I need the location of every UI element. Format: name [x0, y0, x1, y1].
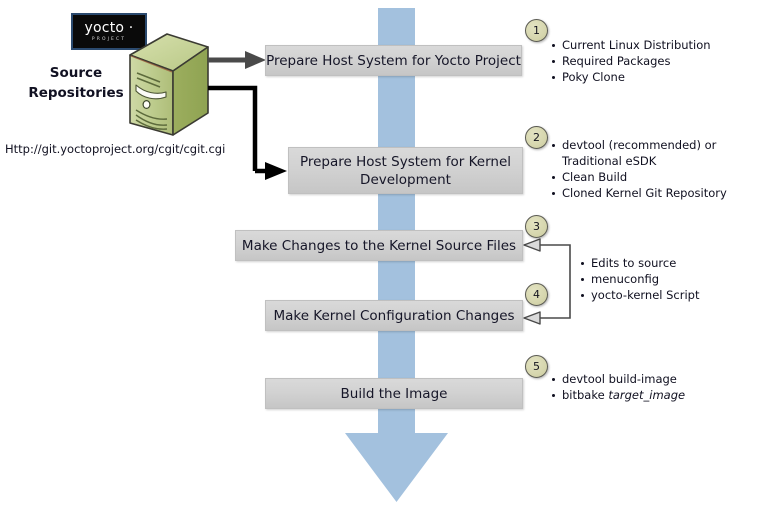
- process-box-step-3[interactable]: Make Changes to the Kernel Source Files: [235, 230, 523, 261]
- bullet-list-step-1: Current Linux Distribution Required Pack…: [551, 37, 711, 85]
- logo-subtext: PROJECT: [92, 36, 126, 43]
- connector-bracket-steps-3-4: [524, 239, 570, 324]
- source-label-line2: Repositories: [12, 83, 140, 103]
- list-item: bitbake target_image: [551, 387, 685, 403]
- process-box-step-4[interactable]: Make Kernel Configuration Changes: [265, 300, 523, 331]
- source-repository-url: Http://git.yoctoproject.org/cgit/cgit.cg…: [5, 142, 235, 156]
- source-repositories-label: Source Repositories: [12, 63, 140, 103]
- bullet-list-step-2: devtool (recommended) or Traditional eSD…: [551, 137, 727, 201]
- list-item: Required Packages: [551, 53, 711, 69]
- list-item: Clean Build: [551, 169, 727, 185]
- list-item: yocto-kernel Script: [580, 287, 700, 303]
- process-box-step-5[interactable]: Build the Image: [265, 378, 523, 409]
- source-label-line1: Source: [12, 63, 140, 83]
- process-box-step-2[interactable]: Prepare Host System for Kernel Developme…: [288, 147, 523, 194]
- connector-server-to-step1: [208, 51, 266, 69]
- list-item: Edits to source: [580, 255, 700, 271]
- list-item: Current Linux Distribution: [551, 37, 711, 53]
- step-badge-2: 2: [525, 126, 548, 149]
- list-item: devtool (recommended) or Traditional eSD…: [551, 137, 722, 169]
- diagram-canvas: yocto · PROJECT Source Repositories Http…: [0, 0, 769, 517]
- bitbake-command-prefix: bitbake: [562, 388, 608, 402]
- list-item: menuconfig: [580, 271, 700, 287]
- bitbake-target-image-arg: target_image: [608, 388, 685, 402]
- connector-server-to-step2: [208, 88, 287, 180]
- process-box-step-1[interactable]: Prepare Host System for Yocto Project: [265, 45, 522, 76]
- server-icon: [127, 31, 211, 141]
- step-badge-1: 1: [525, 19, 548, 42]
- list-item: devtool build-image: [551, 371, 685, 387]
- step-badge-3: 3: [525, 215, 548, 238]
- bullet-list-steps-3-4: Edits to source menuconfig yocto-kernel …: [580, 255, 700, 303]
- bullet-list-step-5: devtool build-image bitbake target_image: [551, 371, 685, 403]
- step-badge-5: 5: [525, 355, 548, 378]
- step-badge-4: 4: [525, 283, 548, 306]
- list-item: Cloned Kernel Git Repository: [551, 185, 727, 201]
- list-item: Poky Clone: [551, 69, 711, 85]
